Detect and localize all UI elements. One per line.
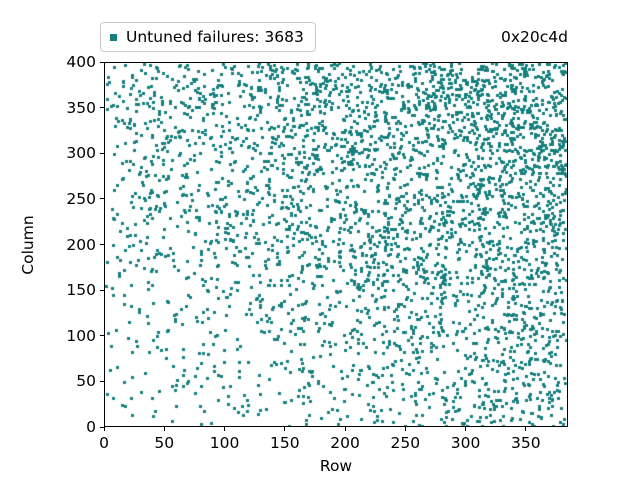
y-tick-label: 300 — [44, 145, 96, 161]
y-tick-mark — [100, 244, 104, 245]
x-tick-label: 50 — [134, 435, 194, 451]
y-tick-label: 400 — [44, 54, 96, 70]
x-tick-label: 150 — [255, 435, 315, 451]
y-axis-label: Column — [19, 165, 37, 325]
plot-axes-area — [104, 62, 568, 427]
x-tick-label: 350 — [496, 435, 556, 451]
matplotlib-figure: 0x20c4d 050100150200250300350400 0501001… — [0, 0, 640, 480]
x-tick-label: 250 — [375, 435, 435, 451]
square-marker-icon — [110, 34, 117, 41]
x-tick-mark — [164, 427, 165, 431]
x-tick-mark — [465, 427, 466, 431]
y-tick-label: 200 — [44, 237, 96, 253]
x-tick-mark — [525, 427, 526, 431]
x-tick-mark — [104, 427, 105, 431]
x-axis-label: Row — [104, 457, 568, 475]
y-tick-mark — [100, 198, 104, 199]
x-tick-mark — [284, 427, 285, 431]
y-tick-label: 50 — [44, 373, 96, 389]
legend-entry-label: Untuned failures: 3683 — [126, 28, 304, 46]
x-tick-label: 0 — [74, 435, 134, 451]
y-tick-mark — [100, 381, 104, 382]
y-tick-label: 250 — [44, 191, 96, 207]
y-tick-label: 0 — [44, 419, 96, 435]
x-axis-tick-labels: 050100150200250300350 — [0, 435, 640, 455]
y-axis-tick-labels: 050100150200250300350400 — [40, 0, 96, 480]
y-tick-mark — [100, 335, 104, 336]
chart-legend: Untuned failures: 3683 — [100, 22, 316, 52]
x-tick-label: 100 — [195, 435, 255, 451]
y-tick-mark — [100, 290, 104, 291]
y-tick-mark — [100, 153, 104, 154]
y-tick-label: 350 — [44, 100, 96, 116]
y-tick-mark — [100, 62, 104, 63]
y-tick-label: 150 — [44, 282, 96, 298]
y-tick-mark — [100, 107, 104, 108]
scatter-plot-points — [105, 63, 568, 427]
x-tick-label: 200 — [315, 435, 375, 451]
y-tick-label: 100 — [44, 328, 96, 344]
x-tick-mark — [224, 427, 225, 431]
x-tick-mark — [405, 427, 406, 431]
x-tick-mark — [345, 427, 346, 431]
x-tick-label: 300 — [436, 435, 496, 451]
